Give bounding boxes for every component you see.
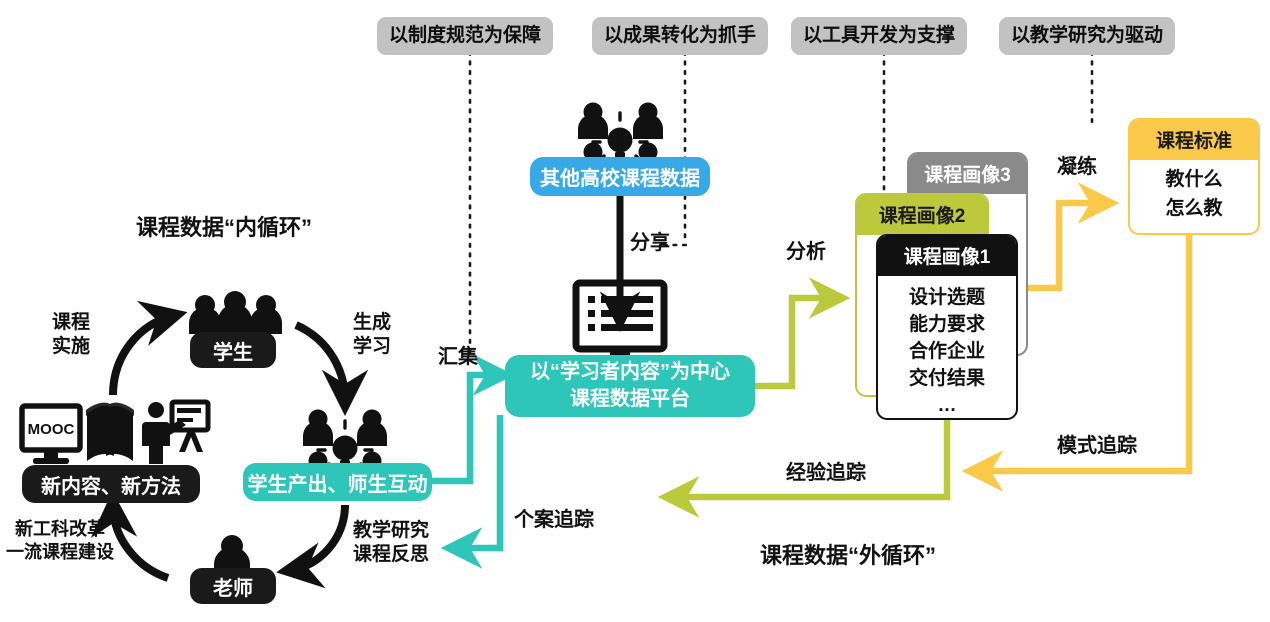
badge-teaching-research[interactable]: 以教学研究为驱动	[999, 17, 1175, 55]
portrait-card-1[interactable]: 课程画像1 设计选题 能力要求 合作企业 交付结果 …	[876, 234, 1018, 420]
arrow-reform	[113, 507, 168, 578]
course-standard-card[interactable]: 课程标准 教什么 怎么教	[1128, 118, 1260, 235]
label-share: 分享	[630, 231, 670, 256]
node-interaction-label: 学生产出、师生互动	[248, 468, 428, 497]
label-case-tracking: 个案追踪	[514, 508, 594, 533]
mooc-monitor-icon: MOOC	[22, 406, 80, 464]
arrow-case-tracking	[455, 415, 500, 548]
other-universities-data-label: 其他高校课程数据	[540, 162, 700, 191]
label-implement: 课程 实施	[52, 311, 90, 359]
platform-line2: 课程数据平台	[570, 386, 690, 413]
portrait-card-2-title: 课程画像2	[857, 195, 987, 235]
portrait-item-0: 设计选题	[878, 285, 1016, 312]
arrow-research	[292, 505, 345, 570]
label-experience-tracking: 经验追踪	[786, 461, 866, 486]
portrait-card-1-items: 设计选题 能力要求 合作企业 交付结果 …	[878, 276, 1016, 420]
connector-layer: MOOC	[0, 0, 1270, 622]
inner-cycle-title: 课程数据“内循环”	[136, 214, 312, 242]
diagram-canvas: MOOC	[0, 0, 1270, 622]
node-interaction[interactable]: 学生产出、师生互动	[243, 463, 432, 501]
platform-line1: 以“学习者内容”为中心	[530, 359, 730, 386]
course-standard-item-0: 教什么	[1130, 166, 1258, 195]
label-refine: 凝练	[1057, 155, 1097, 180]
label-teaching-research: 教学研究 课程反思	[353, 519, 429, 567]
course-standard-item-1: 怎么教	[1130, 195, 1258, 224]
arrow-refine	[1022, 203, 1105, 288]
label-pattern-tracking: 模式追踪	[1057, 434, 1137, 459]
node-teacher[interactable]: 老师	[190, 568, 276, 604]
node-student[interactable]: 学生	[190, 332, 276, 368]
label-engineering-reform: 新工科改革 一流课程建设	[6, 518, 114, 563]
node-student-label: 学生	[213, 336, 253, 365]
course-standard-title: 课程标准	[1130, 120, 1258, 160]
arrow-generate	[296, 325, 345, 400]
node-new-content-label: 新内容、新方法	[41, 470, 181, 499]
group-people-icon	[189, 291, 282, 334]
arrow-collect	[432, 375, 500, 481]
course-standard-items: 教什么 怎么教	[1130, 160, 1258, 223]
label-generate: 生成 学习	[353, 311, 391, 359]
platform-box[interactable]: 以“学习者内容”为中心 课程数据平台	[505, 355, 755, 417]
open-book-icon	[86, 403, 134, 461]
arrow-implement	[113, 316, 172, 395]
arrow-analyze	[755, 298, 836, 386]
svg-text:MOOC: MOOC	[28, 421, 75, 438]
badge-tool[interactable]: 以工具开发为支撑	[791, 17, 967, 55]
badge-institution[interactable]: 以制度规范为保障	[377, 17, 553, 55]
node-new-content[interactable]: 新内容、新方法	[22, 465, 200, 503]
portrait-item-1: 能力要求	[878, 312, 1016, 339]
portrait-card-1-title: 课程画像1	[878, 236, 1016, 276]
badge-outcome[interactable]: 以成果转化为抓手	[592, 17, 768, 55]
outer-cycle-title: 课程数据“外循环”	[760, 542, 936, 570]
portrait-item-3: 交付结果	[878, 366, 1016, 393]
portrait-item-4: …	[878, 393, 1016, 420]
portrait-card-3-title: 课程画像3	[909, 154, 1026, 194]
label-collect: 汇集	[438, 345, 478, 370]
other-universities-data-box[interactable]: 其他高校课程数据	[530, 157, 710, 196]
teacher-board-icon	[142, 402, 208, 464]
portrait-item-2: 合作企业	[878, 339, 1016, 366]
list-monitor-icon	[576, 283, 664, 364]
node-teacher-label: 老师	[213, 572, 253, 601]
label-analyze: 分析	[786, 240, 826, 265]
